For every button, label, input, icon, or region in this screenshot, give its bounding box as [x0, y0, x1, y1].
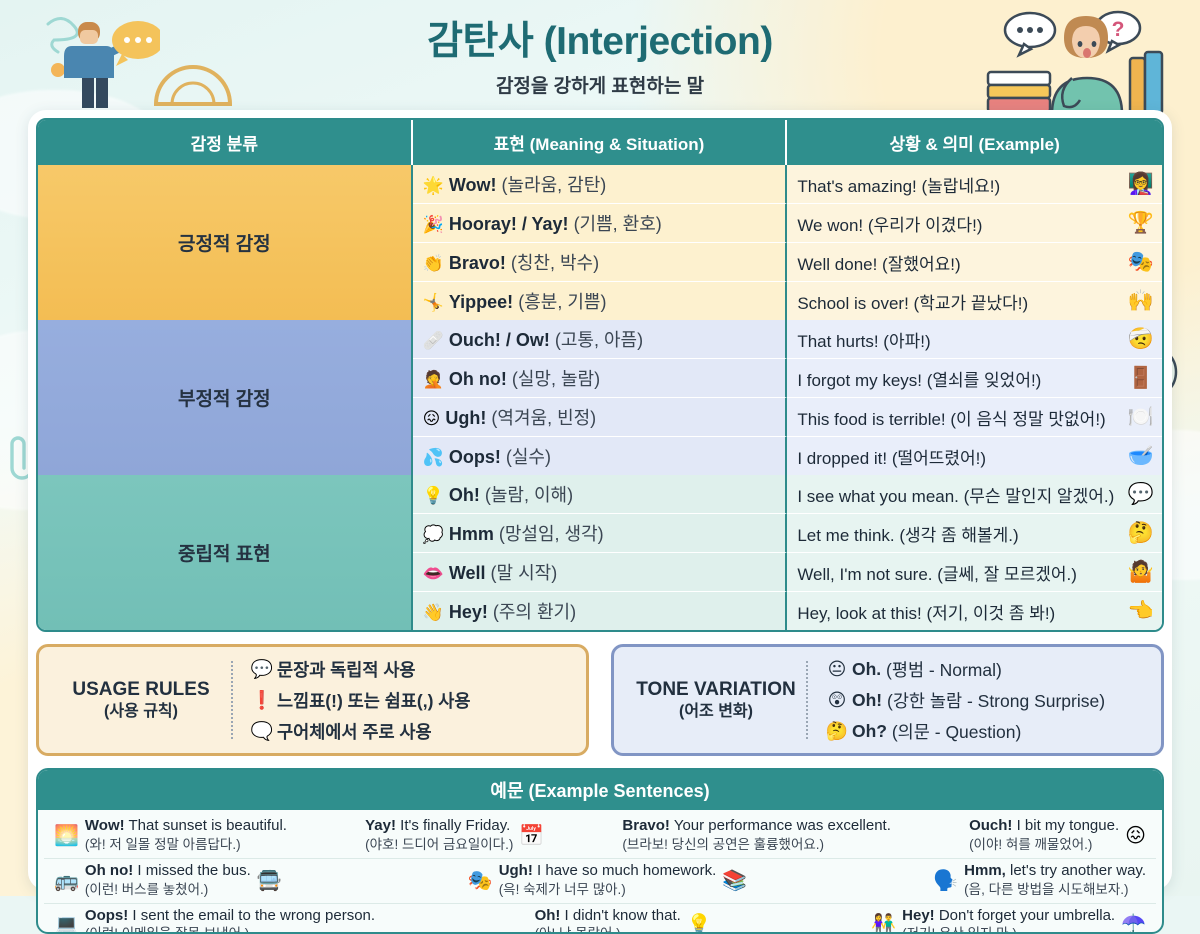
- expression-gloss: (말 시작): [491, 563, 558, 583]
- example-sentence-en: Hmm, let's try another way.: [964, 862, 1146, 879]
- expression-icon: 😖: [423, 409, 441, 428]
- example-sentence-ko: (아! 난 몰랐어.): [535, 926, 621, 934]
- example-thumbnail-icon: 🤕: [1128, 329, 1154, 350]
- expression-gloss: (고통, 아픔): [555, 330, 643, 350]
- example-text: That's amazing! (놀랍네요!): [797, 177, 1000, 196]
- example-sentence-item: 🎭Ugh! I have so much homework.(윽! 숙제가 너무…: [462, 862, 753, 900]
- example-sentence-text: Hey! Don't forget your umbrella.(저기! 우산 …: [902, 907, 1115, 934]
- tone-variation-item: 😐Oh. (평범 - Normal): [822, 654, 1147, 685]
- tone-variation-icon: 🤔: [822, 721, 852, 742]
- meaning-cell: 😖Ugh! (역겨움, 빈정): [413, 398, 788, 437]
- column-header-meaning: 표현 (Meaning & Situation): [413, 120, 788, 165]
- usage-rules-title: USAGE RULES: [53, 678, 229, 702]
- example-sentence-item: Yay! It's finally Friday.(야호! 드디어 금요일이다.…: [359, 817, 550, 855]
- example-sentence-ko: (저기! 우산 잊지 마.): [902, 926, 1017, 934]
- expression-keyword: Ugh!: [445, 408, 486, 428]
- example-sentence-en: Bravo! Your performance was excellent.: [622, 817, 890, 834]
- example-sentence-item: 💻Oops! I sent the email to the wrong per…: [48, 907, 381, 934]
- tone-variation-item: 🤔Oh? (의문 - Question): [822, 716, 1147, 747]
- meaning-cell: 🩹Ouch! / Ow! (고통, 아픔): [413, 320, 788, 359]
- example-thumbnail-icon: 🎭: [1128, 252, 1154, 273]
- example-cell: Well, I'm not sure. (글쎄, 잘 모르겠어.)🤷: [787, 553, 1162, 592]
- example-sentence-en: Oops! I sent the email to the wrong pers…: [85, 907, 375, 924]
- meaning-cell: 🎉Hooray! / Yay! (기쁨, 환호): [413, 204, 788, 243]
- header: 감탄사 (Interjection) 감정을 강하게 표현하는 말: [28, 6, 1172, 110]
- example-cell: That hurts! (아파!)🤕: [787, 320, 1162, 359]
- usage-rule-text: 문장과 독립적 사용: [277, 657, 416, 682]
- example-cell: I forgot my keys! (열쇠를 잊었어!)🚪: [787, 359, 1162, 398]
- usage-rules-box: USAGE RULES (사용 규칙) 💬문장과 독립적 사용❗느낌표(!) 또…: [36, 644, 589, 756]
- expression-keyword: Oh!: [449, 485, 480, 505]
- expression-gloss: (흥분, 기쁨): [518, 292, 606, 312]
- example-leading-icon: 💻: [54, 915, 79, 934]
- example-sentences-block: 예문 (Example Sentences) 🌅Wow! That sunset…: [36, 768, 1164, 934]
- example-thumbnail-icon: 🏆: [1128, 213, 1154, 234]
- meaning-cell: 💭Hmm (망설임, 생각): [413, 514, 788, 553]
- example-sentence-ko: (이런! 이메일을 잘못 보냈어.): [85, 926, 249, 934]
- example-sentence-en: Oh! I didn't know that.: [535, 907, 681, 924]
- column-header-category: 감정 분류: [38, 120, 413, 165]
- expression-keyword: Oh no!: [449, 369, 507, 389]
- expression-gloss: (놀람, 이해): [485, 485, 573, 505]
- category-cell: 중립적 표현: [38, 475, 413, 630]
- example-cell: I see what you mean. (무슨 말인지 알겠어.)💬: [787, 475, 1162, 514]
- example-cell: We won! (우리가 이겼다!)🏆: [787, 204, 1162, 243]
- tone-variation-text: (평범 - Normal): [886, 657, 1002, 682]
- expression-icon: 🌟: [423, 176, 444, 195]
- example-sentence-item: Ouch! I bit my tongue.(이야! 혀를 깨물었어.)😖: [963, 817, 1152, 855]
- example-leading-icon: 🚌: [54, 871, 79, 891]
- example-trailing-icon: 💡: [687, 915, 712, 934]
- example-sentence-text: Oh no! I missed the bus.(이런! 버스를 놓쳤어.): [85, 862, 251, 900]
- expression-keyword: Oops!: [449, 447, 501, 467]
- category-cell: 긍정적 감정: [38, 165, 413, 320]
- example-text: We won! (우리가 이겼다!): [797, 216, 982, 235]
- example-sentence-text: Ouch! I bit my tongue.(이야! 혀를 깨물었어.): [969, 817, 1119, 855]
- tone-variation-subtitle: (어조 변화): [628, 702, 804, 722]
- example-leading-icon: 🌅: [54, 826, 79, 846]
- example-thumbnail-icon: 🍽️: [1128, 407, 1154, 428]
- example-text: That hurts! (아파!): [797, 332, 930, 351]
- divider: [231, 661, 233, 739]
- tone-variation-keyword: Oh?: [852, 721, 892, 742]
- usage-rule-item: 💬문장과 독립적 사용: [247, 654, 572, 685]
- usage-rule-icon: ❗: [247, 690, 277, 711]
- tone-variation-text: (의문 - Question): [892, 719, 1021, 744]
- expression-gloss: (실수): [506, 447, 551, 467]
- column-header-example: 상황 & 의미 (Example): [787, 120, 1162, 165]
- example-thumbnail-icon: 🤔: [1128, 523, 1154, 544]
- example-sentence-en: Ouch! I bit my tongue.: [969, 817, 1119, 834]
- expression-keyword: Hmm: [449, 524, 494, 544]
- expression-keyword: Well: [449, 563, 486, 583]
- expression-gloss: (망설임, 생각): [499, 524, 604, 544]
- example-sentence-en: Yay! It's finally Friday.: [365, 817, 510, 834]
- tone-variation-title: TONE VARIATION: [628, 678, 804, 702]
- meaning-cell: 🤸Yippee! (흥분, 기쁨): [413, 282, 788, 320]
- example-sentence-item: 🗣️Hmm, let's try another way.(음, 다른 방법을 …: [927, 862, 1152, 900]
- example-sentence-ko: (윽! 숙제가 너무 많아.): [499, 882, 626, 897]
- example-line: 🌅Wow! That sunset is beautiful.(와! 저 일몰 …: [44, 814, 1156, 859]
- meaning-cell: 💦Oops! (실수): [413, 437, 788, 475]
- expression-keyword: Ouch! / Ow!: [449, 330, 550, 350]
- expression-keyword: Hooray! / Yay!: [449, 214, 569, 234]
- example-sentence-ko: (야호! 드디어 금요일이다.): [365, 837, 513, 852]
- example-sentence-en: Wow! That sunset is beautiful.: [85, 817, 287, 834]
- example-sentence-text: Wow! That sunset is beautiful.(와! 저 일몰 정…: [85, 817, 287, 855]
- expression-keyword: Bravo!: [449, 253, 506, 273]
- expression-icon: 💡: [423, 486, 444, 505]
- example-sentence-ko: (와! 저 일몰 정말 아름답다.): [85, 837, 241, 852]
- category-cell: 부정적 감정: [38, 320, 413, 475]
- expression-icon: 🤦: [423, 370, 444, 389]
- usage-rule-item: 🗨️구어체에서 주로 사용: [247, 716, 572, 747]
- usage-rule-icon: 💬: [247, 659, 277, 680]
- example-leading-icon: 👫: [871, 915, 896, 934]
- usage-rule-icon: 🗨️: [247, 721, 277, 742]
- expression-gloss: (주의 환기): [493, 602, 576, 622]
- example-text: This food is terrible! (이 음식 정말 맛없어!): [797, 410, 1105, 429]
- example-sentence-en: Hey! Don't forget your umbrella.: [902, 907, 1115, 924]
- example-text: Well done! (잘했어요!): [797, 255, 960, 274]
- meaning-cell: 🌟Wow! (놀라움, 감탄): [413, 165, 788, 204]
- example-sentence-text: Oh! I didn't know that.(아! 난 몰랐어.): [535, 907, 681, 934]
- tone-variation-keyword: Oh.: [852, 659, 886, 680]
- tone-variation-box: TONE VARIATION (어조 변화) 😐Oh. (평범 - Normal…: [611, 644, 1164, 756]
- interjection-table: 감정 분류 표현 (Meaning & Situation) 상황 & 의미 (…: [36, 118, 1164, 632]
- expression-keyword: Yippee!: [449, 292, 513, 312]
- example-sentences-heading: 예문 (Example Sentences): [38, 770, 1162, 810]
- usage-rules-list: 💬문장과 독립적 사용❗느낌표(!) 또는 쉼표(,) 사용🗨️구어체에서 주로…: [247, 654, 572, 747]
- example-cell: I dropped it! (떨어뜨렸어!)🥣: [787, 437, 1162, 475]
- expression-icon: 🩹: [423, 331, 444, 350]
- expression-gloss: (칭찬, 박수): [511, 253, 599, 273]
- example-thumbnail-icon: 👈: [1128, 601, 1154, 622]
- example-cell: Let me think. (생각 좀 해볼게.)🤔: [787, 514, 1162, 553]
- expression-icon: 👏: [423, 254, 444, 273]
- expression-icon: 💦: [423, 448, 444, 467]
- example-sentence-text: Ugh! I have so much homework.(윽! 숙제가 너무 …: [499, 862, 717, 900]
- expression-gloss: (놀라움, 감탄): [502, 175, 607, 195]
- expression-keyword: Hey!: [449, 602, 488, 622]
- usage-rule-text: 느낌표(!) 또는 쉼표(,) 사용: [277, 688, 471, 713]
- example-thumbnail-icon: 🙌: [1128, 291, 1154, 312]
- meaning-cell: 💡Oh! (놀람, 이해): [413, 475, 788, 514]
- usage-rules-heading: USAGE RULES (사용 규칙): [53, 678, 229, 722]
- table-header-row: 감정 분류 표현 (Meaning & Situation) 상황 & 의미 (…: [38, 120, 1162, 165]
- example-cell: School is over! (학교가 끝났다!)🙌: [787, 282, 1162, 320]
- example-cell: Hey, look at this! (저기, 이것 좀 봐!)👈: [787, 592, 1162, 630]
- example-sentence-item: Bravo! Your performance was excellent.(브…: [616, 817, 896, 855]
- tone-variation-text: (강한 놀람 - Strong Surprise): [887, 688, 1105, 713]
- example-sentence-item: Oh! I didn't know that.(아! 난 몰랐어.)💡: [529, 907, 718, 934]
- page-title: 감탄사 (Interjection): [28, 20, 1172, 65]
- example-trailing-icon: 🚍: [257, 871, 282, 891]
- example-sentence-text: Hmm, let's try another way.(음, 다른 방법을 시도…: [964, 862, 1146, 900]
- meaning-cell: 👏Bravo! (칭찬, 박수): [413, 243, 788, 282]
- expression-gloss: (실망, 놀람): [512, 369, 600, 389]
- example-text: Hey, look at this! (저기, 이것 좀 봐!): [797, 604, 1055, 623]
- example-trailing-icon: ☂️: [1121, 915, 1146, 934]
- example-cell: This food is terrible! (이 음식 정말 맛없어!)🍽️: [787, 398, 1162, 437]
- example-trailing-icon: 📅: [519, 826, 544, 846]
- tone-variation-keyword: Oh!: [852, 690, 887, 711]
- example-sentence-en: Oh no! I missed the bus.: [85, 862, 251, 879]
- example-trailing-icon: 😖: [1125, 826, 1146, 846]
- example-sentence-ko: (음, 다른 방법을 시도해보자.): [964, 882, 1128, 897]
- example-text: I dropped it! (떨어뜨렸어!): [797, 449, 986, 468]
- expression-gloss: (역겨움, 빈정): [491, 408, 596, 428]
- example-sentences-grid: 🌅Wow! That sunset is beautiful.(와! 저 일몰 …: [38, 810, 1162, 934]
- table-body: 긍정적 감정🌟Wow! (놀라움, 감탄)That's amazing! (놀랍…: [38, 165, 1162, 630]
- example-thumbnail-icon: 💬: [1128, 484, 1154, 505]
- example-text: School is over! (학교가 끝났다!): [797, 294, 1028, 313]
- expression-icon: 👄: [423, 564, 444, 583]
- expression-icon: 💭: [423, 525, 444, 544]
- example-trailing-icon: 📚: [722, 871, 747, 891]
- page-subtitle: 감정을 강하게 표현하는 말: [28, 71, 1172, 98]
- table-row: 긍정적 감정🌟Wow! (놀라움, 감탄)That's amazing! (놀랍…: [38, 165, 1162, 204]
- tone-variation-item: 😲Oh! (강한 놀람 - Strong Surprise): [822, 685, 1147, 716]
- tone-variation-icon: 😲: [822, 690, 852, 711]
- meaning-cell: 👄Well (말 시작): [413, 553, 788, 592]
- example-sentence-en: Ugh! I have so much homework.: [499, 862, 717, 879]
- example-sentence-ko: (이야! 혀를 깨물었어.): [969, 837, 1092, 852]
- example-text: I see what you mean. (무슨 말인지 알겠어.): [797, 487, 1114, 506]
- example-thumbnail-icon: 🥣: [1128, 446, 1154, 467]
- example-sentence-item: 👫Hey! Don't forget your umbrella.(저기! 우산…: [865, 907, 1152, 934]
- example-sentence-text: Oops! I sent the email to the wrong pers…: [85, 907, 375, 934]
- content-panel: 감정 분류 표현 (Meaning & Situation) 상황 & 의미 (…: [28, 110, 1172, 890]
- example-thumbnail-icon: 🤷: [1128, 562, 1154, 583]
- example-line: 🚌Oh no! I missed the bus.(이런! 버스를 놓쳤어.)🚍…: [44, 859, 1156, 904]
- example-cell: That's amazing! (놀랍네요!)👩‍🏫: [787, 165, 1162, 204]
- example-sentence-item: 🌅Wow! That sunset is beautiful.(와! 저 일몰 …: [48, 817, 293, 855]
- tone-variation-list: 😐Oh. (평범 - Normal)😲Oh! (강한 놀람 - Strong S…: [822, 654, 1147, 747]
- meaning-cell: 👋Hey! (주의 환기): [413, 592, 788, 630]
- example-line: 💻Oops! I sent the email to the wrong per…: [44, 904, 1156, 934]
- usage-rule-text: 구어체에서 주로 사용: [277, 719, 432, 744]
- example-text: Let me think. (생각 좀 해볼게.): [797, 526, 1018, 545]
- example-sentence-ko: (이런! 버스를 놓쳤어.): [85, 882, 208, 897]
- expression-icon: 🤸: [423, 293, 444, 312]
- expression-icon: 🎉: [423, 215, 444, 234]
- example-thumbnail-icon: 👩‍🏫: [1128, 174, 1154, 195]
- example-leading-icon: 🗣️: [933, 871, 958, 891]
- example-sentence-text: Bravo! Your performance was excellent.(브…: [622, 817, 890, 855]
- example-text: I forgot my keys! (열쇠를 잊었어!): [797, 371, 1041, 390]
- tone-variation-icon: 😐: [822, 659, 852, 680]
- example-sentence-item: 🚌Oh no! I missed the bus.(이런! 버스를 놓쳤어.)🚍: [48, 862, 288, 900]
- example-sentence-ko: (브라보! 당신의 공연은 훌륭했어요.): [622, 837, 824, 852]
- example-cell: Well done! (잘했어요!)🎭: [787, 243, 1162, 282]
- example-thumbnail-icon: 🚪: [1128, 368, 1154, 389]
- tone-variation-heading: TONE VARIATION (어조 변화): [628, 678, 804, 722]
- infographic-page: 감탄사 (Interjection) 감정을 강하게 표현하는 말 감정 분류 …: [0, 0, 1200, 896]
- example-leading-icon: 🎭: [468, 871, 493, 891]
- meaning-cell: 🤦Oh no! (실망, 놀람): [413, 359, 788, 398]
- expression-keyword: Wow!: [449, 175, 497, 195]
- info-boxes: USAGE RULES (사용 규칙) 💬문장과 독립적 사용❗느낌표(!) 또…: [36, 644, 1164, 756]
- expression-gloss: (기쁨, 환호): [574, 214, 662, 234]
- usage-rule-item: ❗느낌표(!) 또는 쉼표(,) 사용: [247, 685, 572, 716]
- divider: [806, 661, 808, 739]
- example-sentence-text: Yay! It's finally Friday.(야호! 드디어 금요일이다.…: [365, 817, 513, 855]
- table-row: 부정적 감정🩹Ouch! / Ow! (고통, 아픔)That hurts! (…: [38, 320, 1162, 359]
- usage-rules-subtitle: (사용 규칙): [53, 702, 229, 722]
- table-row: 중립적 표현💡Oh! (놀람, 이해)I see what you mean. …: [38, 475, 1162, 514]
- example-text: Well, I'm not sure. (글쎄, 잘 모르겠어.): [797, 565, 1077, 584]
- expression-icon: 👋: [423, 603, 444, 622]
